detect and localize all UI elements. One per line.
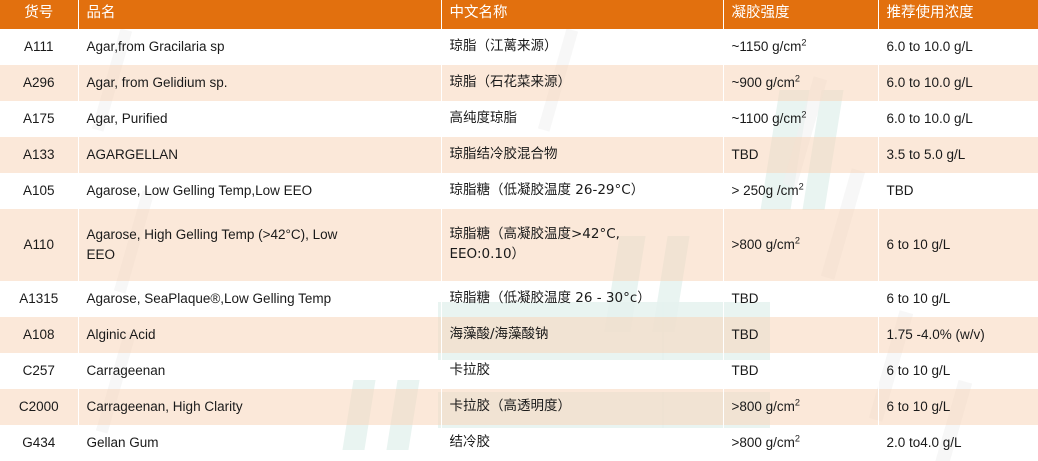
cell-concentration: 3.5 to 5.0 g/L xyxy=(878,137,1038,173)
cell-code: C257 xyxy=(0,353,78,389)
cell-chinese-name: 琼脂糖（高凝胶温度>42°C, EEO:0.10） xyxy=(441,209,723,281)
cell-concentration: 6.0 to 10.0 g/L xyxy=(878,101,1038,137)
table-row: C2000 Carrageenan, High Clarity 卡拉胶（高透明度… xyxy=(0,389,1038,425)
gel-strength-value: >800 g/cm xyxy=(732,237,795,252)
gel-strength-exponent: 2 xyxy=(799,182,804,192)
cell-concentration: 6.0 to 10.0 g/L xyxy=(878,29,1038,65)
cell-chinese-name: 高纯度琼脂 xyxy=(441,101,723,137)
cell-chinese-name: 结冷胶 xyxy=(441,425,723,461)
cell-concentration: 6 to 10 g/L xyxy=(878,353,1038,389)
cell-code: A296 xyxy=(0,65,78,101)
cell-name-line-2: EEO xyxy=(87,245,433,265)
table-row: A110 Agarose, High Gelling Temp (>42°C),… xyxy=(0,209,1038,281)
cell-name: Agar,from Gracilaria sp xyxy=(78,29,441,65)
table-header-row: 货号 品名 中文名称 凝胶强度 推荐使用浓度 xyxy=(0,0,1038,29)
cell-chinese-name: 海藻酸/海藻酸钠 xyxy=(441,317,723,353)
gel-strength-value: >800 g/cm xyxy=(732,435,795,450)
cell-code: A175 xyxy=(0,101,78,137)
table-row: A111 Agar,from Gracilaria sp 琼脂（江蓠来源） ~1… xyxy=(0,29,1038,65)
column-header-cn: 中文名称 xyxy=(441,0,723,29)
cell-concentration: 6 to 10 g/L xyxy=(878,389,1038,425)
cell-name: Agarose, SeaPlaque®,Low Gelling Temp xyxy=(78,281,441,317)
gel-strength-value: ~1100 g/cm xyxy=(732,111,802,126)
column-header-code: 货号 xyxy=(0,0,78,29)
table-header: 货号 品名 中文名称 凝胶强度 推荐使用浓度 xyxy=(0,0,1038,29)
cell-code: A133 xyxy=(0,137,78,173)
gel-strength-exponent: 2 xyxy=(801,38,806,48)
cell-gel-strength: ~900 g/cm2 xyxy=(723,65,878,101)
table-row: A105 Agarose, Low Gelling Temp,Low EEO 琼… xyxy=(0,173,1038,209)
cell-name-multiline: Agarose, High Gelling Temp (>42°C), Low … xyxy=(87,225,433,264)
cell-gel-strength: TBD xyxy=(723,281,878,317)
cell-concentration: 6.0 to 10.0 g/L xyxy=(878,65,1038,101)
cell-name: Agarose, Low Gelling Temp,Low EEO xyxy=(78,173,441,209)
cell-gel-strength: TBD xyxy=(723,353,878,389)
cell-code: A105 xyxy=(0,173,78,209)
cell-name: Carrageenan xyxy=(78,353,441,389)
gel-strength-exponent: 2 xyxy=(795,236,800,246)
cell-gel-strength: >800 g/cm2 xyxy=(723,389,878,425)
cell-name: Alginic Acid xyxy=(78,317,441,353)
gel-strength-value: TBD xyxy=(732,291,759,306)
product-table-page: 货号 品名 中文名称 凝胶强度 推荐使用浓度 A111 Agar,from Gr… xyxy=(0,0,1038,461)
gel-strength-exponent: 2 xyxy=(795,434,800,444)
cell-name: Gellan Gum xyxy=(78,425,441,461)
cell-code: A111 xyxy=(0,29,78,65)
cell-chinese-name: 卡拉胶（高透明度） xyxy=(441,389,723,425)
cell-gel-strength: > 250g /cm2 xyxy=(723,173,878,209)
cell-code: A110 xyxy=(0,209,78,281)
cell-name: Agarose, High Gelling Temp (>42°C), Low … xyxy=(78,209,441,281)
cell-concentration: 1.75 -4.0% (w/v) xyxy=(878,317,1038,353)
gel-strength-value: TBD xyxy=(732,363,759,378)
gel-strength-exponent: 2 xyxy=(801,110,806,120)
cell-chinese-name: 琼脂糖（低凝胶温度 26-29°C） xyxy=(441,173,723,209)
cell-concentration: 6 to 10 g/L xyxy=(878,209,1038,281)
cell-name: AGARGELLAN xyxy=(78,137,441,173)
cell-chinese-name-multiline: 琼脂糖（高凝胶温度>42°C, EEO:0.10） xyxy=(450,225,715,264)
cell-name: Agar, from Gelidium sp. xyxy=(78,65,441,101)
cell-code: G434 xyxy=(0,425,78,461)
cell-gel-strength: TBD xyxy=(723,317,878,353)
cell-concentration: TBD xyxy=(878,173,1038,209)
table-row: G434 Gellan Gum 结冷胶 >800 g/cm2 2.0 to4.0… xyxy=(0,425,1038,461)
gel-strength-value: ~1150 g/cm xyxy=(732,39,802,54)
gel-strength-exponent: 2 xyxy=(795,74,800,84)
cell-chinese-name: 卡拉胶 xyxy=(441,353,723,389)
cell-name: Carrageenan, High Clarity xyxy=(78,389,441,425)
gel-strength-value: >800 g/cm xyxy=(732,399,795,414)
cell-chinese-name-line-1: 琼脂糖（高凝胶温度>42°C, xyxy=(450,225,715,245)
column-header-name: 品名 xyxy=(78,0,441,29)
table-row: A1315 Agarose, SeaPlaque®,Low Gelling Te… xyxy=(0,281,1038,317)
gel-strength-value: TBD xyxy=(732,147,759,162)
column-header-concentration: 推荐使用浓度 xyxy=(878,0,1038,29)
cell-chinese-name-line-2: EEO:0.10） xyxy=(450,245,715,265)
cell-concentration: 2.0 to4.0 g/L xyxy=(878,425,1038,461)
cell-gel-strength: >800 g/cm2 xyxy=(723,425,878,461)
gel-strength-exponent: 2 xyxy=(795,398,800,408)
cell-chinese-name: 琼脂（江蓠来源） xyxy=(441,29,723,65)
cell-gel-strength: ~1100 g/cm2 xyxy=(723,101,878,137)
gel-strength-value: ~900 g/cm xyxy=(732,75,795,90)
cell-gel-strength: ~1150 g/cm2 xyxy=(723,29,878,65)
cell-chinese-name: 琼脂糖（低凝胶温度 26 - 30°c） xyxy=(441,281,723,317)
cell-name: Agar, Purified xyxy=(78,101,441,137)
table-row: A296 Agar, from Gelidium sp. 琼脂（石花菜来源） ~… xyxy=(0,65,1038,101)
cell-chinese-name: 琼脂结冷胶混合物 xyxy=(441,137,723,173)
table-row: C257 Carrageenan 卡拉胶 TBD 6 to 10 g/L xyxy=(0,353,1038,389)
cell-gel-strength: >800 g/cm2 xyxy=(723,209,878,281)
cell-name-line-1: Agarose, High Gelling Temp (>42°C), Low xyxy=(87,225,433,245)
cell-concentration: 6 to 10 g/L xyxy=(878,281,1038,317)
gel-strength-value: > 250g /cm xyxy=(732,183,799,198)
product-table: 货号 品名 中文名称 凝胶强度 推荐使用浓度 A111 Agar,from Gr… xyxy=(0,0,1038,461)
cell-chinese-name: 琼脂（石花菜来源） xyxy=(441,65,723,101)
table-row: A175 Agar, Purified 高纯度琼脂 ~1100 g/cm2 6.… xyxy=(0,101,1038,137)
gel-strength-value: TBD xyxy=(732,327,759,342)
table-body: A111 Agar,from Gracilaria sp 琼脂（江蓠来源） ~1… xyxy=(0,29,1038,461)
column-header-strength: 凝胶强度 xyxy=(723,0,878,29)
cell-code: C2000 xyxy=(0,389,78,425)
table-row: A108 Alginic Acid 海藻酸/海藻酸钠 TBD 1.75 -4.0… xyxy=(0,317,1038,353)
cell-gel-strength: TBD xyxy=(723,137,878,173)
table-row: A133 AGARGELLAN 琼脂结冷胶混合物 TBD 3.5 to 5.0 … xyxy=(0,137,1038,173)
cell-code: A1315 xyxy=(0,281,78,317)
cell-code: A108 xyxy=(0,317,78,353)
